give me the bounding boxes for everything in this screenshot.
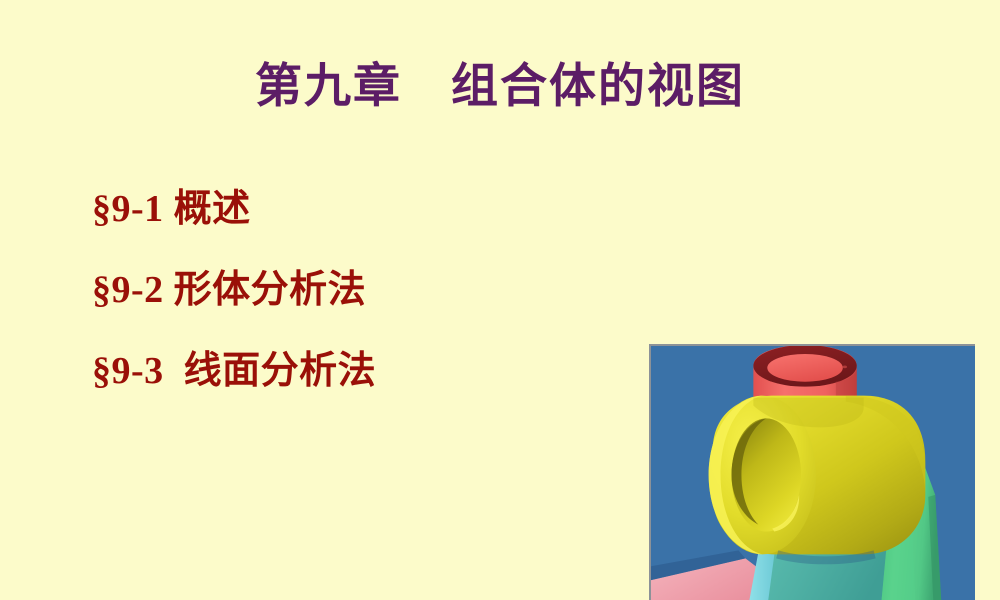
presentation-slide: 第九章 组合体的视图 §9-1 概述 §9-2 形体分析法 §9-3 线面分析法 [0, 0, 1000, 600]
agenda-item-9-1[interactable]: §9-1 概述 [92, 190, 612, 228]
3d-composite-solid-render [651, 346, 975, 600]
agenda-list: §9-1 概述 §9-2 形体分析法 §9-3 线面分析法 [92, 190, 612, 433]
page-title: 第九章 组合体的视图 [0, 62, 1000, 114]
agenda-item-9-2[interactable]: §9-2 形体分析法 [92, 271, 612, 309]
red-boss-highlight [843, 365, 847, 368]
agenda-item-9-3[interactable]: §9-3 线面分析法 [92, 352, 612, 390]
red-boss-bore [767, 354, 843, 382]
yellow-cylinder-bore [732, 418, 802, 531]
figure-frame [649, 344, 975, 600]
